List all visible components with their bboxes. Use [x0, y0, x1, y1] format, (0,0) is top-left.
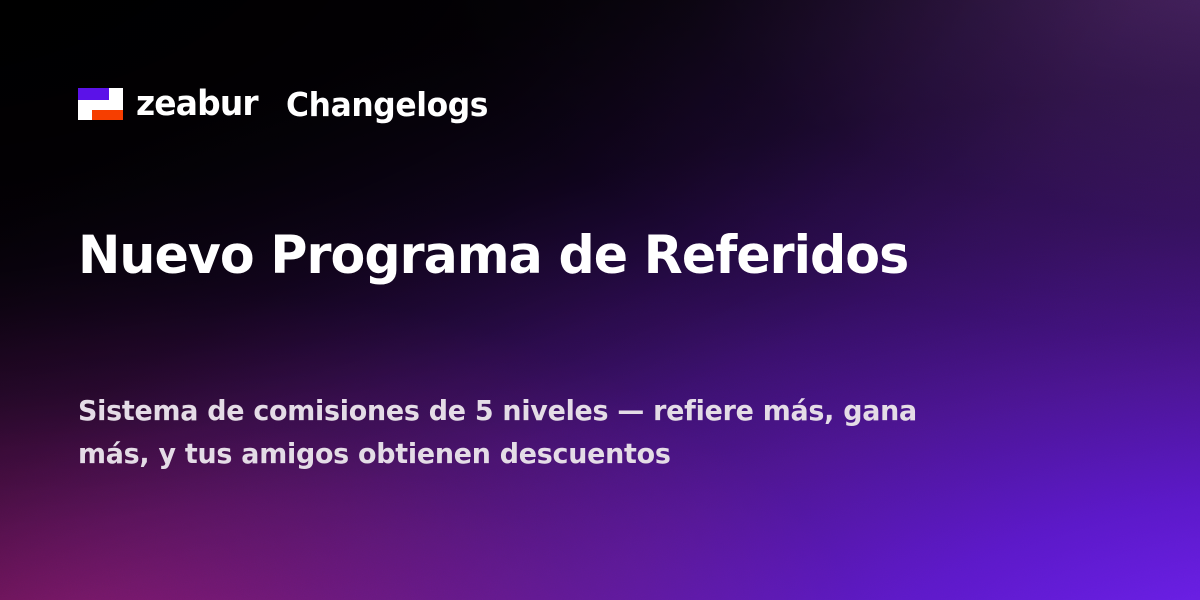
page-title: Nuevo Programa de Referidos [78, 226, 1033, 285]
page-subtitle: Sistema de comisiones de 5 niveles — ref… [78, 390, 947, 475]
page-kind-label: Changelogs [286, 88, 488, 121]
brand-header[interactable]: zeabur Changelogs [78, 82, 498, 126]
changelog-og-card: zeabur Changelogs Nuevo Programa de Refe… [0, 0, 1200, 600]
zeabur-wordmark: zeabur [136, 87, 258, 122]
zeabur-z-mark-icon [78, 88, 123, 120]
card-content: zeabur Changelogs Nuevo Programa de Refe… [0, 0, 1200, 600]
